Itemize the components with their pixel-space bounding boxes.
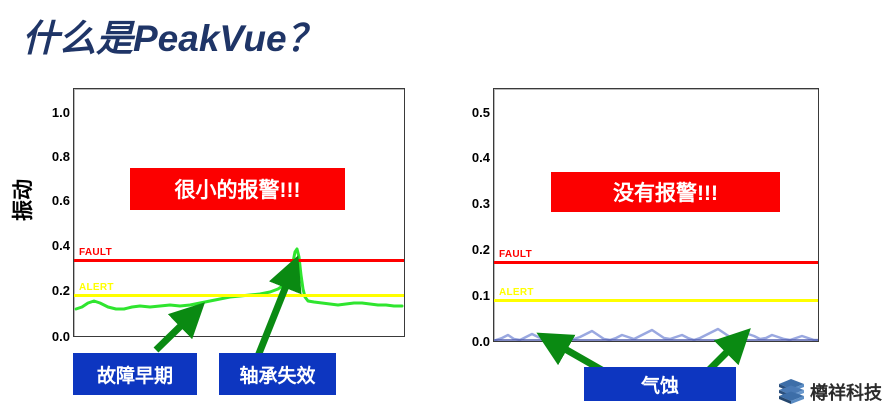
left-ytick-6: 0.0 (36, 329, 70, 344)
left-chart-clip: FAULT ALERT (74, 89, 404, 336)
left-ytick-3: 0.6 (36, 193, 70, 208)
right-ytick-5: 0.1 (456, 288, 490, 303)
left-fault-line (74, 259, 404, 262)
right-alert-label: ALERT (499, 287, 534, 298)
left-ytick-2: 0.8 (36, 149, 70, 164)
right-ytick-4: 0.2 (456, 242, 490, 257)
left-ytick-4: 0.4 (36, 238, 70, 253)
right-alarm-callout: 没有报警!!! (551, 172, 780, 212)
left-chart-plot-area: FAULT ALERT (73, 88, 405, 337)
right-chart-plot-area: FAULT ALERT (493, 88, 819, 342)
left-alert-label: ALERT (79, 282, 114, 293)
right-alert-line (494, 299, 818, 302)
annotation-bearing-failure: 轴承失效 (219, 353, 336, 395)
left-alert-line (74, 294, 404, 297)
left-alarm-callout: 很小的报警!!! (130, 168, 345, 210)
stacked-books-icon (776, 378, 806, 406)
annotation-cavitation: 气蚀 (584, 367, 736, 401)
right-fault-line (494, 261, 818, 264)
logo-text: 樽祥科技 (810, 379, 882, 405)
left-trend-line (74, 89, 404, 336)
annotation-early-fault: 故障早期 (73, 353, 197, 395)
right-trend-line (494, 89, 818, 341)
right-ytick-6: 0.0 (456, 334, 490, 349)
left-fault-label: FAULT (79, 247, 112, 258)
right-ytick-3: 0.3 (456, 196, 490, 211)
page-title: 什么是PeakVue？ (22, 8, 324, 62)
y-axis-label: 振动 (7, 170, 37, 230)
right-fault-label: FAULT (499, 249, 532, 260)
left-ytick-5: 0.2 (36, 283, 70, 298)
right-ytick-2: 0.4 (456, 150, 490, 165)
left-ytick-1: 1.0 (36, 105, 70, 120)
company-logo: 樽祥科技 (776, 376, 890, 408)
right-chart-clip: FAULT ALERT (494, 89, 818, 341)
right-ytick-1: 0.5 (456, 105, 490, 120)
slide-canvas: 什么是PeakVue？ 振动 1.0 0.8 0.6 0.4 0.2 0.0 0… (0, 0, 894, 418)
